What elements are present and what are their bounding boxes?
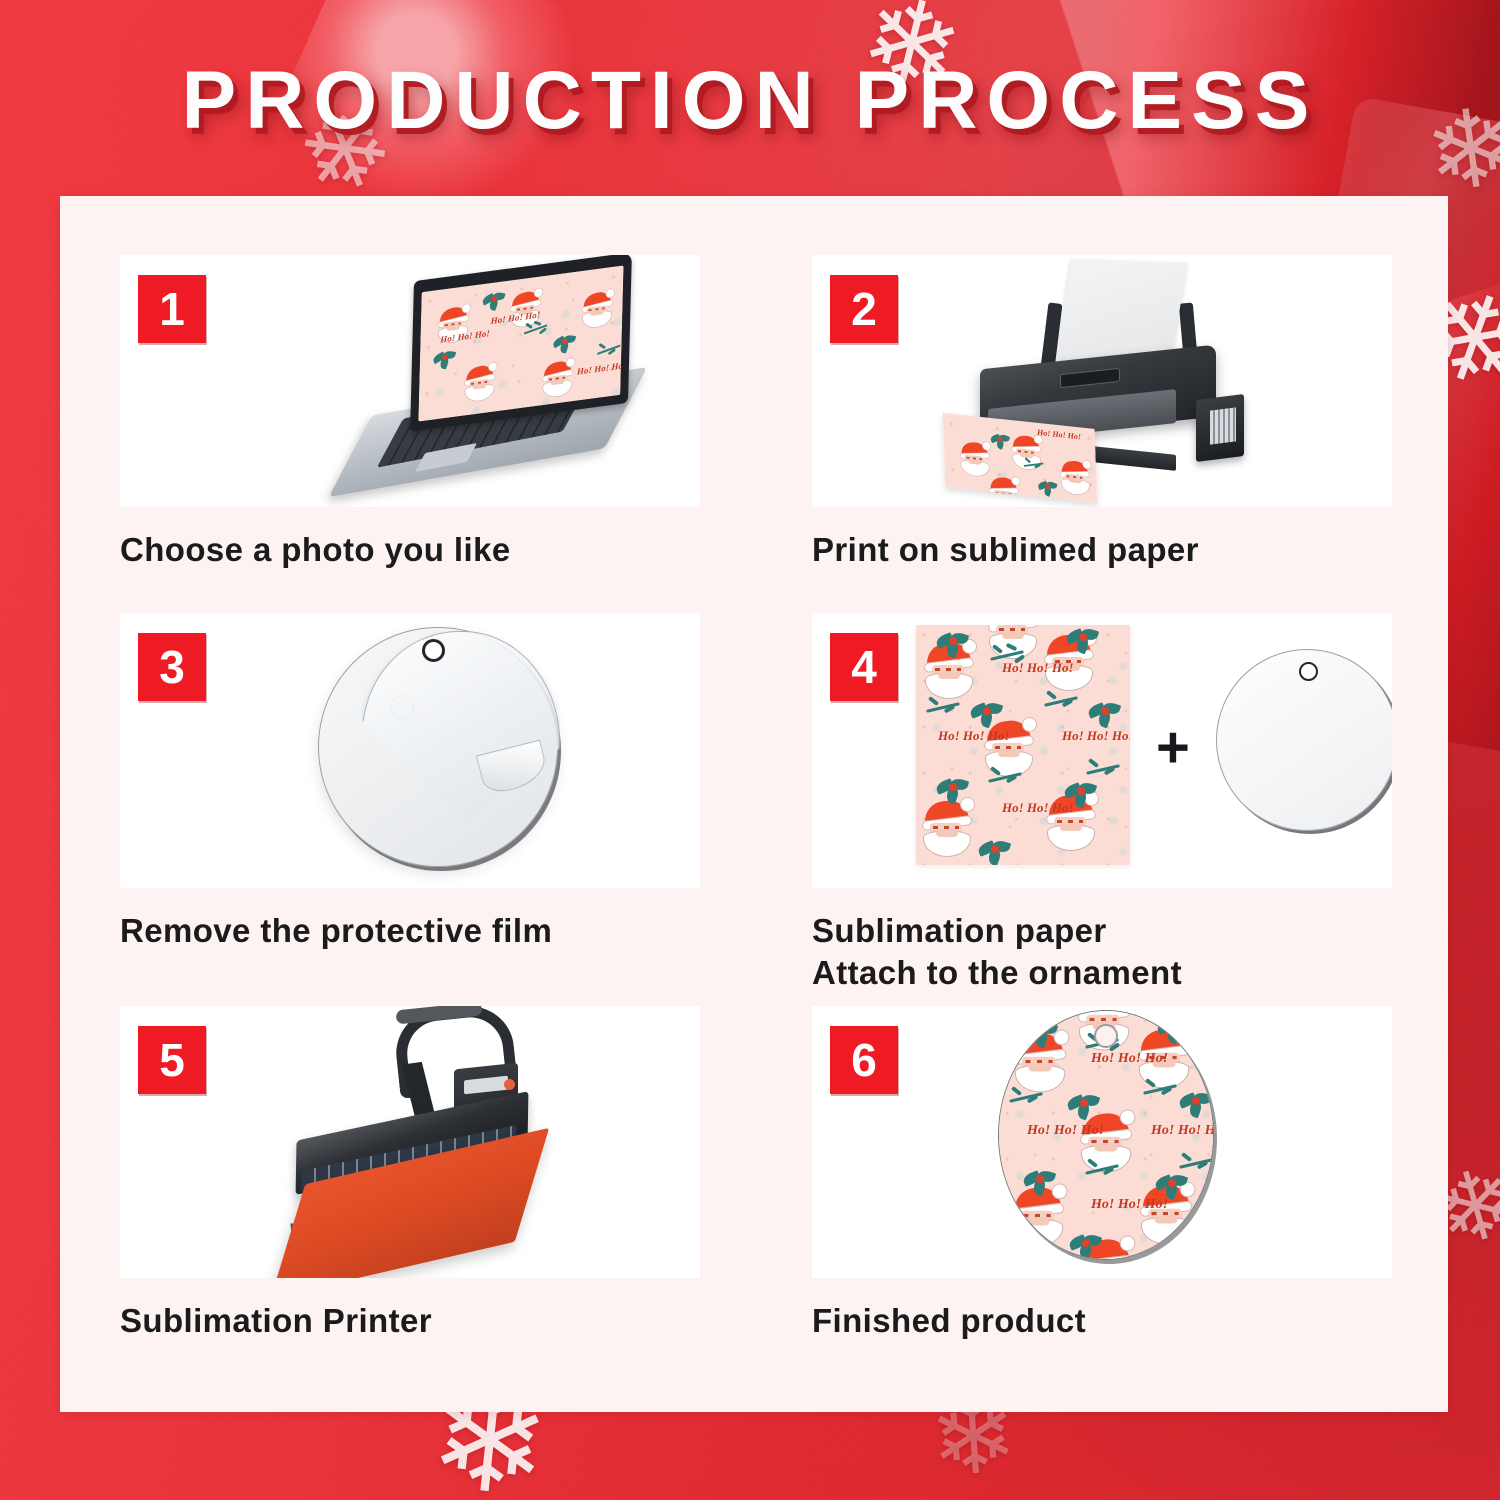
step-card-5: 5 Sublimation Printer [120, 1006, 700, 1376]
step-caption: Finished product [812, 1300, 1392, 1342]
step-caption: Sublimation paper Attach to the ornament [812, 910, 1392, 993]
step-card-4: Ho! Ho! Ho! Ho! Ho! Ho! Ho! Ho! Ho! Ho! … [812, 613, 1392, 988]
blank-round-ornament [1216, 649, 1392, 831]
hanging-hole [1094, 1024, 1118, 1048]
step-caption: Print on sublimed paper [812, 529, 1392, 571]
finished-ornament-illustration: Ho! Ho! Ho! Ho! Ho! Ho! Ho! Ho! Ho! Ho! … [812, 1006, 1392, 1278]
pattern-text: Ho! Ho! Ho! [1062, 729, 1130, 743]
step-6-image: Ho! Ho! Ho! Ho! Ho! Ho! Ho! Ho! Ho! Ho! … [812, 1006, 1392, 1278]
step-number-badge: 1 [138, 275, 206, 343]
step-number-badge: 3 [138, 633, 206, 701]
step-card-3: 3 Remove the protective film [120, 613, 700, 988]
pattern-text: Ho! Ho! Ho! [1002, 801, 1074, 815]
step-card-6: Ho! Ho! Ho! Ho! Ho! Ho! Ho! Ho! Ho! Ho! … [812, 1006, 1392, 1376]
paper-plus-ornament-illustration: Ho! Ho! Ho! Ho! Ho! Ho! Ho! Ho! Ho! Ho! … [812, 613, 1392, 888]
printed-sheet: Ho! Ho! Ho! [943, 413, 1097, 503]
laptop-illustration: Ho! Ho! Ho! Ho! Ho! Ho! Ho! Ho! Ho! [120, 255, 700, 507]
step-caption: Sublimation Printer [120, 1300, 700, 1342]
heat-press-illustration [120, 1006, 700, 1278]
step-1-image: Ho! Ho! Ho! Ho! Ho! Ho! Ho! Ho! Ho! 1 [120, 255, 700, 507]
step-number-badge: 4 [830, 633, 898, 701]
pattern-text: Ho! Ho! Ho! [1091, 1051, 1168, 1066]
step-number-badge: 5 [138, 1026, 206, 1094]
page-title: PRODUCTION PROCESS [0, 54, 1500, 148]
step-number-badge: 6 [830, 1026, 898, 1094]
pattern-text: Ho! Ho! Ho! [1027, 1123, 1104, 1138]
pattern-text: Ho! Ho! Ho! [1002, 661, 1074, 675]
hanging-hole [1299, 662, 1318, 681]
step-4-image: Ho! Ho! Ho! Ho! Ho! Ho! Ho! Ho! Ho! Ho! … [812, 613, 1392, 888]
plus-symbol: + [1156, 719, 1190, 777]
step-caption: Choose a photo you like [120, 529, 700, 571]
pattern-text: Ho! Ho! Ho! [1151, 1123, 1214, 1138]
steps-grid: Ho! Ho! Ho! Ho! Ho! Ho! Ho! Ho! Ho! 1 Ch… [120, 255, 1392, 1377]
pattern-text: Ho! Ho! Ho! [1091, 1197, 1168, 1212]
step-2-image: Ho! Ho! Ho! 2 [812, 255, 1392, 507]
santa-pattern: Ho! Ho! Ho! Ho! Ho! Ho! Ho! Ho! Ho! [418, 265, 623, 421]
step-number-badge: 2 [830, 275, 898, 343]
step-5-image: 5 [120, 1006, 700, 1278]
poster-canvas: ❄ ❄ ❄ ❄ ❄ ❄ ❄ ❄ ❄ PRODUCTION PROCESS [0, 0, 1500, 1500]
step-caption: Remove the protective film [120, 910, 700, 952]
sublimation-paper-sheet: Ho! Ho! Ho! Ho! Ho! Ho! Ho! Ho! Ho! Ho! … [916, 625, 1130, 865]
acrylic-blank-illustration [120, 613, 700, 888]
step-card-2: Ho! Ho! Ho! 2 Print on sublimed paper [812, 255, 1392, 595]
pattern-text: Ho! Ho! Ho! [938, 729, 1010, 743]
step-3-image: 3 [120, 613, 700, 888]
printer-illustration: Ho! Ho! Ho! [812, 255, 1392, 507]
hanging-hole [422, 639, 445, 662]
step-card-1: Ho! Ho! Ho! Ho! Ho! Ho! Ho! Ho! Ho! 1 Ch… [120, 255, 700, 595]
